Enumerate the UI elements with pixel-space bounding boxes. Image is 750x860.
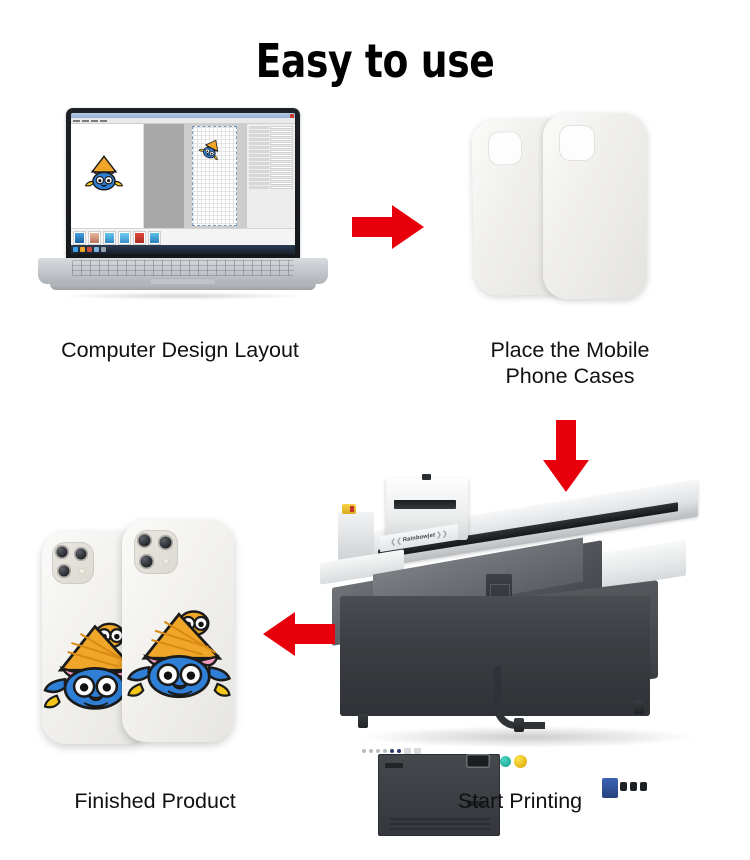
- status-led: [362, 749, 366, 753]
- printer-hmi-screen[interactable]: [466, 754, 490, 768]
- camera-flash-icon: [163, 558, 169, 564]
- property-row[interactable]: [249, 158, 293, 161]
- bird-character-icon: [81, 148, 127, 194]
- property-row[interactable]: [249, 150, 293, 153]
- camera-lens-icon: [139, 554, 154, 569]
- start-button[interactable]: [500, 756, 511, 767]
- printer-caster: [634, 700, 644, 714]
- arrow-shaft: [556, 420, 576, 462]
- property-row[interactable]: [249, 186, 293, 189]
- property-row[interactable]: [249, 178, 293, 181]
- taskbar-icon[interactable]: [87, 247, 92, 252]
- property-row[interactable]: [249, 174, 293, 177]
- camera-module: [52, 542, 94, 584]
- property-row[interactable]: [249, 166, 293, 169]
- printer-left-arm: [338, 512, 374, 560]
- menu-item[interactable]: [73, 120, 80, 122]
- menu-item[interactable]: [91, 120, 98, 122]
- status-led: [390, 749, 394, 753]
- property-row[interactable]: [249, 134, 293, 137]
- canvas-artwork[interactable]: [193, 127, 232, 169]
- bird-character-icon: [124, 598, 234, 702]
- property-row[interactable]: [249, 130, 293, 133]
- thumbnail-item[interactable]: [148, 231, 161, 245]
- camera-cutout: [559, 125, 595, 161]
- camera-lens-icon: [137, 533, 152, 548]
- caption-place-phone-cases: Place the Mobile Phone Cases: [420, 337, 720, 389]
- property-row[interactable]: [249, 146, 293, 149]
- property-row[interactable]: [249, 162, 293, 165]
- printer-shadow: [358, 726, 698, 748]
- laptop-lid: [66, 108, 300, 261]
- camera-lens-icon: [74, 547, 88, 561]
- caption-computer-design-layout: Computer Design Layout: [20, 337, 340, 363]
- lamp-indicator: [350, 506, 354, 512]
- taskbar-icon[interactable]: [80, 247, 85, 252]
- camera-flash-icon: [79, 568, 85, 574]
- status-led: [397, 749, 401, 753]
- caption-finished-product: Finished Product: [20, 788, 290, 814]
- printed-artwork: [124, 598, 234, 702]
- panel-switch[interactable]: [404, 748, 411, 754]
- menu-item[interactable]: [100, 120, 107, 122]
- window-close-icon[interactable]: [290, 114, 294, 118]
- printer-vent: [390, 818, 490, 832]
- printer-indicator-panel: [362, 746, 424, 756]
- caption-line-2: Phone Cases: [420, 363, 720, 389]
- emergency-stop-button[interactable]: [514, 755, 527, 768]
- design-canvas[interactable]: [192, 126, 237, 226]
- arrow-right-icon: [352, 205, 424, 249]
- door-handle[interactable]: [385, 763, 403, 768]
- phone-case-front: [543, 113, 647, 299]
- caption-line-1: Place the Mobile: [420, 337, 720, 363]
- canvas-area[interactable]: [184, 124, 246, 228]
- camera-lens-icon: [57, 564, 71, 578]
- panel-switch[interactable]: [414, 748, 421, 754]
- design-laptop: [38, 108, 328, 308]
- laptop-keyboard[interactable]: [72, 260, 294, 276]
- status-led: [383, 749, 387, 753]
- workspace-gutter-left: [144, 124, 184, 228]
- thumbnail-item[interactable]: [103, 231, 116, 245]
- camera-lens-icon: [158, 535, 173, 550]
- camera-lens-icon: [55, 545, 69, 559]
- property-row[interactable]: [249, 170, 293, 173]
- taskbar-icon[interactable]: [101, 247, 106, 252]
- thumbnail-strip[interactable]: [71, 228, 295, 245]
- logo-chevron-left-icon: ❮❮: [390, 537, 402, 547]
- printer-caster: [514, 718, 524, 732]
- taskbar-icon[interactable]: [73, 247, 78, 252]
- property-row[interactable]: [249, 126, 293, 129]
- thumbnail-item[interactable]: [73, 231, 86, 245]
- laptop-screen: [71, 113, 295, 254]
- printed-case-front: [122, 520, 234, 742]
- thumbnail-item[interactable]: [133, 231, 146, 245]
- preview-panel: [71, 124, 144, 228]
- properties-panel[interactable]: [246, 124, 295, 228]
- uv-flatbed-printer: ❮❮ Rainbowjet ❯❯: [318, 468, 738, 773]
- software-workspace: [71, 124, 295, 228]
- status-led: [369, 749, 373, 753]
- property-row[interactable]: [249, 182, 293, 185]
- arrow-shaft: [293, 624, 335, 644]
- printer-brand-name: Rainbowjet: [403, 533, 435, 544]
- property-row[interactable]: [249, 142, 293, 145]
- page-title: Easy to use: [68, 34, 683, 88]
- camera-module: [134, 530, 178, 574]
- thumbnail-item[interactable]: [88, 231, 101, 245]
- arrow-left-icon: [263, 612, 335, 656]
- printed-phone-cases: [36, 512, 256, 762]
- printer-caster: [358, 714, 368, 728]
- arrow-shaft: [352, 217, 394, 237]
- logo-chevron-right-icon: ❯❯: [436, 529, 448, 539]
- status-led: [376, 749, 380, 753]
- blank-phone-cases: [465, 105, 655, 310]
- laptop-shadow: [58, 292, 308, 300]
- taskbar-icon[interactable]: [94, 247, 99, 252]
- caption-start-printing: Start Printing: [380, 788, 660, 814]
- property-row[interactable]: [249, 154, 293, 157]
- camera-cutout: [488, 131, 523, 166]
- arrow-head: [263, 612, 295, 656]
- os-taskbar[interactable]: [71, 245, 295, 254]
- arrow-head: [392, 205, 424, 249]
- carriage-knob: [422, 474, 431, 480]
- infographic-page: Easy to use: [0, 0, 750, 860]
- thumbnail-item[interactable]: [118, 231, 131, 245]
- property-row[interactable]: [249, 138, 293, 141]
- menu-item[interactable]: [82, 120, 89, 122]
- printhead-slot: [394, 500, 456, 509]
- laptop-front-edge: [50, 284, 316, 290]
- warning-lamp-icon: [342, 504, 356, 514]
